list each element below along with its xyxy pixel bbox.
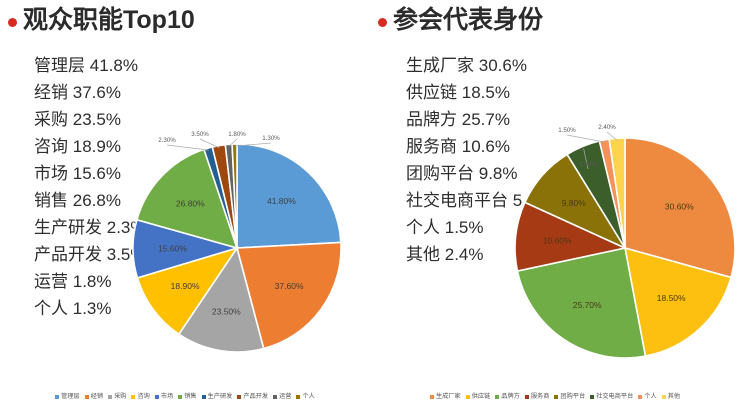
legend-item[interactable]: 团购平台 [554,394,585,400]
legend-item[interactable]: 品牌方 [495,394,520,400]
list-item-value: 26.8% [73,191,121,210]
legend-label: 管理层 [61,394,80,400]
panel-right: 参会代表身份 生成厂家 30.6%供应链 18.5%品牌方 25.7%服务商 1… [370,0,740,412]
legend-swatch-icon [55,395,59,399]
pie-data-label: 10.60% [543,236,572,246]
list-item-value: 15.6% [73,164,121,183]
legend-swatch-icon [430,395,434,399]
pie-data-label: 25.70% [573,300,602,310]
legend-swatch-icon [495,395,499,399]
legend-swatch-icon [108,395,112,399]
legend-item[interactable]: 销售 [178,394,196,400]
legend-swatch-icon [131,395,135,399]
left-title-row: 观众职能Top10 [8,8,195,33]
legend-swatch-icon [466,395,470,399]
legend-label: 采购 [114,394,126,400]
list-item-label: 品牌方 [406,110,457,129]
pie-data-label: 26.80% [176,199,205,209]
pie-data-label: 3.50% [191,131,209,138]
pie-data-label: 1.80% [228,131,246,138]
legend-item[interactable]: 供应链 [466,394,491,400]
pie-data-label: 5.30% [579,161,597,168]
legend-swatch-icon [554,395,558,399]
legend-item[interactable]: 服务商 [525,394,550,400]
legend-label: 供应链 [472,394,491,400]
right-pie-chart: 30.60%18.50%25.70%10.60%9.80%5.30%1.50%2… [510,120,740,370]
pie-data-label: 41.80% [267,196,296,206]
list-item-value: 10.6% [462,137,510,156]
legend-item[interactable]: 生产研发 [202,394,233,400]
legend-swatch-icon [590,395,594,399]
legend-swatch-icon [638,395,642,399]
list-item-label: 服务商 [406,137,457,156]
legend-label: 经销 [91,394,103,400]
list-item-label: 生成厂家 [406,56,474,75]
legend-label: 产品开发 [243,394,268,400]
list-item-label: 团购平台 [406,164,474,183]
list-item-value: 18.5% [462,83,510,102]
list-item: 运营 1.8% [34,268,145,295]
pie-data-label: 1.30% [262,135,280,142]
list-item: 生成厂家 30.6% [406,52,551,79]
list-item-label: 运营 [34,272,68,291]
legend-item[interactable]: 经销 [85,394,103,400]
bullet-icon [378,18,387,27]
legend-label: 生产研发 [208,394,233,400]
list-item-value: 1.3% [73,299,112,318]
pie-data-label: 2.40% [598,124,616,131]
legend-swatch-icon [85,395,89,399]
list-item: 生产研发 2.3% [34,214,145,241]
list-item-label: 个人 [406,218,440,237]
legend-label: 生成厂家 [436,394,461,400]
pie-data-label: 9.80% [562,198,587,208]
left-legend: 管理层经销采购咨询市场销售生产研发产品开发运营个人 [0,394,370,400]
legend-label: 团购平台 [560,394,585,400]
legend-label: 品牌方 [501,394,520,400]
legend-label: 其他 [668,394,680,400]
list-item-value: 18.9% [73,137,121,156]
legend-item[interactable]: 产品开发 [237,394,268,400]
list-item-label: 产品开发 [34,245,102,264]
list-item: 个人 1.3% [34,295,145,322]
list-item-label: 管理层 [34,56,85,75]
list-item: 销售 26.8% [34,187,145,214]
pie-data-label: 30.60% [665,202,694,212]
list-item-label: 供应链 [406,83,457,102]
pie-data-label: 18.50% [657,293,686,303]
right-legend: 生成厂家供应链品牌方服务商团购平台社交电商平台个人其他 [370,394,740,400]
list-item: 管理层 41.8% [34,52,145,79]
legend-swatch-icon [155,395,159,399]
legend-swatch-icon [202,395,206,399]
list-item-label: 经销 [34,83,68,102]
legend-swatch-icon [296,395,300,399]
legend-label: 社交电商平台 [596,394,633,400]
list-item-label: 个人 [34,299,68,318]
list-item: 咨询 18.9% [34,133,145,160]
pie-data-label: 1.50% [558,127,576,134]
legend-item[interactable]: 个人 [296,394,314,400]
pie-data-label: 37.60% [275,281,304,291]
legend-label: 咨询 [137,394,149,400]
legend-label: 运营 [279,394,291,400]
legend-item[interactable]: 社交电商平台 [590,394,633,400]
legend-label: 个人 [644,394,656,400]
legend-swatch-icon [273,395,277,399]
pie-data-label: 15.60% [158,244,187,254]
legend-label: 销售 [184,394,196,400]
left-pie-chart: 41.80%37.60%23.50%18.90%15.60%26.80%2.30… [131,128,343,368]
legend-item[interactable]: 运营 [273,394,291,400]
legend-swatch-icon [525,395,529,399]
list-item-label: 其他 [406,245,440,264]
legend-swatch-icon [178,395,182,399]
list-item-label: 市场 [34,164,68,183]
panel-left: 观众职能Top10 管理层 41.8%经销 37.6%采购 23.5%咨询 18… [0,0,370,412]
pie-leader-line [167,145,209,150]
list-item-value: 30.6% [479,56,527,75]
legend-item[interactable]: 管理层 [55,394,80,400]
list-item-value: 25.7% [462,110,510,129]
list-item-label: 采购 [34,110,68,129]
list-item: 采购 23.5% [34,106,145,133]
list-item-value: 1.5% [445,218,484,237]
page-title-right: 参会代表身份 [393,8,543,33]
pie-leader-line [200,139,219,148]
legend-item[interactable]: 咨询 [131,394,149,400]
pie-data-label: 2.30% [158,137,176,144]
legend-item[interactable]: 市场 [155,394,173,400]
list-item-value: 23.5% [73,110,121,129]
left-item-list: 管理层 41.8%经销 37.6%采购 23.5%咨询 18.9%市场 15.6… [34,52,145,322]
list-item: 市场 15.6% [34,160,145,187]
list-item-value: 1.8% [73,272,112,291]
pie-data-label: 23.50% [212,307,241,317]
list-item-label: 销售 [34,191,68,210]
list-item: 产品开发 3.5% [34,241,145,268]
bullet-icon [8,18,17,27]
legend-label: 个人 [302,394,314,400]
list-item-label: 生产研发 [34,218,102,237]
infographic-page: 观众职能Top10 管理层 41.8%经销 37.6%采购 23.5%咨询 18… [0,0,740,412]
right-title-row: 参会代表身份 [378,8,543,33]
legend-swatch-icon [662,395,666,399]
list-item-value: 2.4% [445,245,484,264]
list-item-value: 41.8% [90,56,138,75]
legend-item[interactable]: 个人 [638,394,656,400]
pie-leader-line [567,135,605,142]
legend-label: 市场 [161,394,173,400]
list-item-label: 社交电商平台 [406,191,508,210]
legend-item[interactable]: 生成厂家 [430,394,461,400]
list-item: 经销 37.6% [34,79,145,106]
list-item-label: 咨询 [34,137,68,156]
pie-data-label: 18.90% [171,281,200,291]
legend-item[interactable]: 其他 [662,394,680,400]
list-item-value: 37.6% [73,83,121,102]
legend-swatch-icon [237,395,241,399]
page-title-left: 观众职能Top10 [23,8,195,33]
list-item: 供应链 18.5% [406,79,551,106]
legend-label: 服务商 [531,394,550,400]
legend-item[interactable]: 采购 [108,394,126,400]
